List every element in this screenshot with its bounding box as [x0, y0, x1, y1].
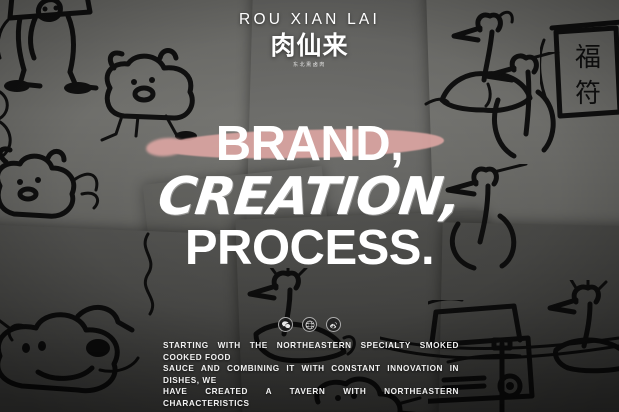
logo-subtitle: 东北熏卤肉	[0, 61, 619, 68]
paragraph-line-3: HAVE CREATED A TAVERN WITH NORTHEASTERN …	[163, 386, 459, 409]
headline-line-1: BRAND,	[0, 118, 619, 170]
ink-sketch-chef	[0, 296, 152, 406]
globe-icon[interactable]	[302, 317, 317, 332]
headline-block: BRAND, CREATION, PROCESS.	[0, 118, 619, 272]
brand-logo: ROU XIAN LAI 肉仙来 东北熏卤肉	[0, 12, 619, 68]
headline-line-3: PROCESS.	[0, 222, 619, 274]
logo-chinese-name: 肉仙来	[0, 33, 619, 58]
wechat-icon[interactable]	[278, 317, 293, 332]
social-icon-row	[0, 317, 619, 332]
description-paragraph: STARTING WITH THE NORTHEASTERN SPECIALTY…	[163, 340, 459, 412]
weibo-icon[interactable]	[326, 317, 341, 332]
headline-line-2: CREATION,	[0, 170, 619, 224]
paragraph-line-1: STARTING WITH THE NORTHEASTERN SPECIALTY…	[163, 340, 459, 363]
ink-sketch-crane	[538, 280, 619, 390]
brand-presentation-slide: 福 符	[0, 0, 619, 412]
logo-latin-name: ROU XIAN LAI	[0, 12, 619, 28]
paragraph-line-2: SAUCE AND COMBINING IT WITH CONSTANT INN…	[163, 363, 459, 386]
